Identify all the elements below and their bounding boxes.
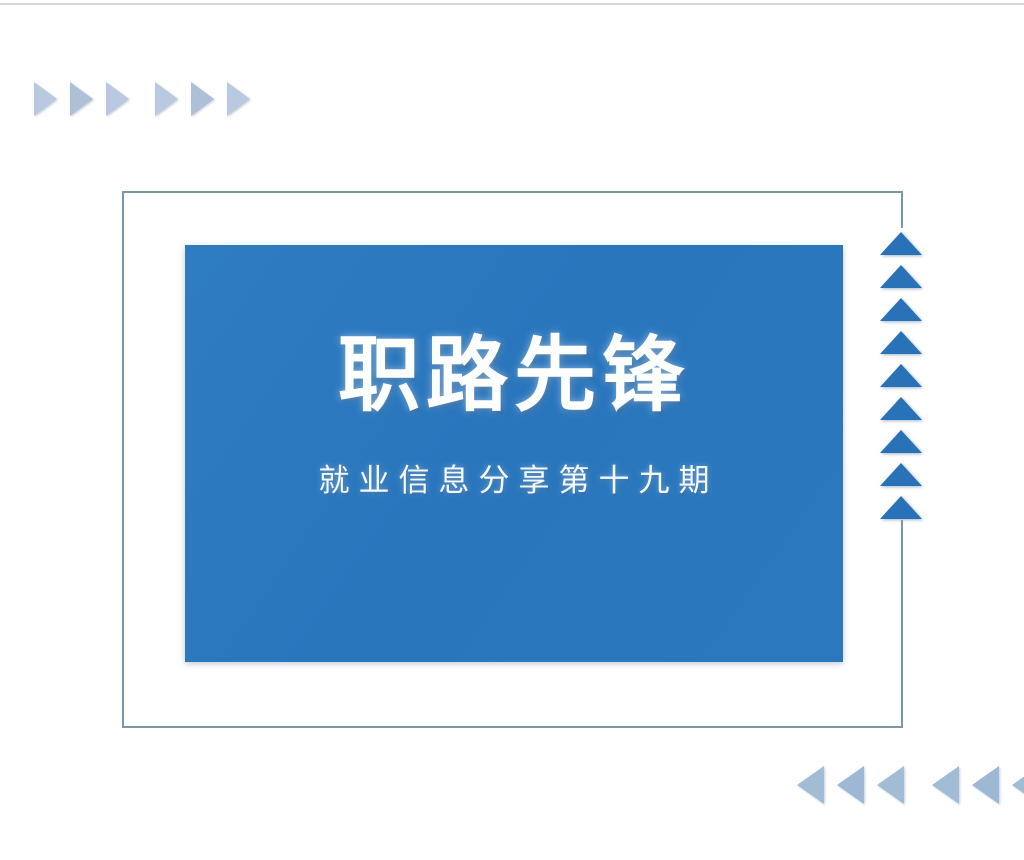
triangle-left-icon xyxy=(932,766,959,804)
slide-canvas: 职路先锋 就业信息分享第十九期 xyxy=(0,0,1024,860)
triangle-right-icon xyxy=(227,82,250,116)
arrow-group-2 xyxy=(155,82,250,116)
triangle-left-icon xyxy=(837,766,864,804)
triangle-up-icon xyxy=(880,364,922,387)
arrow-group-1 xyxy=(797,766,904,804)
triangle-right-icon xyxy=(34,82,57,116)
page-title: 职路先锋 xyxy=(338,335,690,417)
decoration-right-arrow-ladder xyxy=(880,232,922,519)
arrow-group-2 xyxy=(932,766,1024,804)
triangle-up-icon xyxy=(880,298,922,321)
triangle-right-icon xyxy=(155,82,178,116)
triangle-up-icon xyxy=(880,265,922,288)
triangle-up-icon xyxy=(880,496,922,519)
top-hairline-divider xyxy=(0,3,1024,5)
triangle-up-icon xyxy=(880,232,922,255)
triangle-up-icon xyxy=(880,397,922,420)
triangle-up-icon xyxy=(880,430,922,453)
triangle-left-icon xyxy=(1012,766,1024,804)
page-subtitle: 就业信息分享第十九期 xyxy=(310,465,719,496)
triangle-right-icon xyxy=(70,82,93,116)
decoration-bottom-right-arrows xyxy=(797,766,1024,804)
triangle-up-icon xyxy=(880,331,922,354)
triangle-left-icon xyxy=(972,766,999,804)
decoration-top-left-arrows xyxy=(34,82,250,116)
triangle-left-icon xyxy=(877,766,904,804)
triangle-up-icon xyxy=(880,463,922,486)
triangle-right-icon xyxy=(106,82,129,116)
triangle-left-icon xyxy=(797,766,824,804)
title-panel: 职路先锋 就业信息分享第十九期 xyxy=(185,245,843,662)
triangle-right-icon xyxy=(191,82,214,116)
arrow-group-1 xyxy=(34,82,129,116)
